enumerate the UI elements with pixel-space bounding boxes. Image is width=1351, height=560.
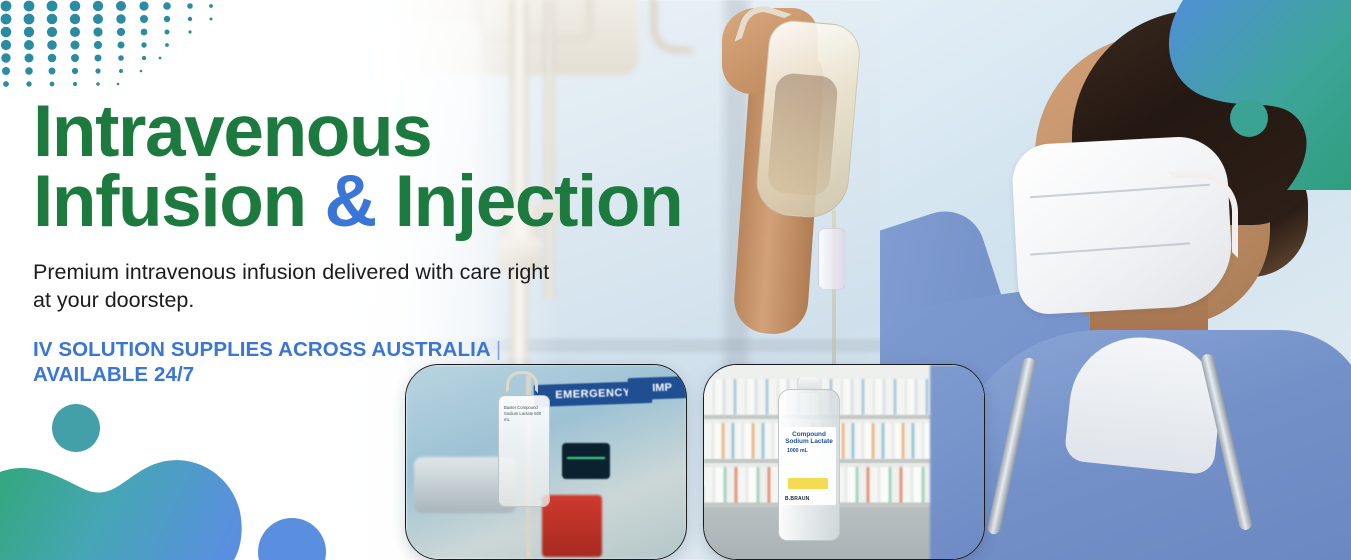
product-name-line-1: Compound bbox=[785, 431, 833, 438]
iv-drip-chamber bbox=[818, 228, 846, 290]
tagline-part-2: AVAILABLE 24/7 bbox=[33, 363, 194, 386]
brand-logo: B.BRAUN bbox=[785, 496, 809, 502]
bottle-label: Compound Sodium Lactate 1000 mL B.BRAUN bbox=[782, 427, 836, 505]
hero-subcopy: Premium intravenous infusion delivered w… bbox=[33, 259, 553, 315]
hero-copy-block: Intravenous Infusion & Injection Premium… bbox=[33, 97, 713, 387]
card-iv-bag: Baxter Compound Sodium Lactate 500 mL bbox=[498, 395, 550, 507]
card-emergency-room[interactable]: EMERGENCY IMP Baxter Compound Sodium Lac… bbox=[405, 364, 687, 560]
halftone-dot-pattern bbox=[0, 0, 225, 95]
iv-bag-fluid bbox=[767, 72, 839, 197]
bottom-left-decorative-blob bbox=[0, 400, 330, 560]
iv-pole-hook-secondary-icon bbox=[650, 0, 696, 54]
hero-tagline: IV SOLUTION SUPPLIES ACROSS AUSTRALIA | … bbox=[33, 337, 593, 387]
product-volume: 1000 mL bbox=[785, 448, 833, 454]
headline-ampersand: & bbox=[325, 161, 376, 242]
tagline-separator: | bbox=[496, 338, 501, 361]
hero-banner: Intravenous Infusion & Injection Premium… bbox=[0, 0, 1351, 560]
page-title: Intravenous Infusion & Injection bbox=[33, 97, 713, 237]
card-iv-bag-label: Baxter Compound Sodium Lactate 500 mL bbox=[504, 405, 544, 423]
headline-infusion: Infusion bbox=[33, 161, 325, 242]
headline-line-2: Infusion & Injection bbox=[33, 167, 713, 237]
patient-monitor bbox=[562, 443, 610, 479]
decorative-circle-small bbox=[52, 404, 100, 452]
product-image-cards: EMERGENCY IMP Baxter Compound Sodium Lac… bbox=[405, 364, 985, 560]
tagline-part-1: IV SOLUTION SUPPLIES ACROSS AUSTRALIA bbox=[33, 338, 490, 361]
headline-injection: Injection bbox=[376, 161, 682, 242]
crash-cart bbox=[542, 495, 602, 557]
top-right-decorative-blob bbox=[1091, 0, 1351, 190]
pharmacist-scrubs bbox=[930, 365, 985, 560]
card-pharmacy-bottle[interactable]: Compound Sodium Lactate 1000 mL B.BRAUN bbox=[703, 364, 985, 560]
label-yellow-band bbox=[788, 478, 828, 489]
product-name-line-2: Sodium Lactate bbox=[785, 438, 833, 445]
decorative-circle-teal bbox=[1230, 99, 1268, 137]
blob-shape-top-right bbox=[1169, 0, 1351, 190]
decorative-circle-blue bbox=[258, 518, 326, 560]
headline-line-1: Intravenous bbox=[33, 91, 431, 172]
blob-shape-bottom-left bbox=[0, 460, 242, 560]
